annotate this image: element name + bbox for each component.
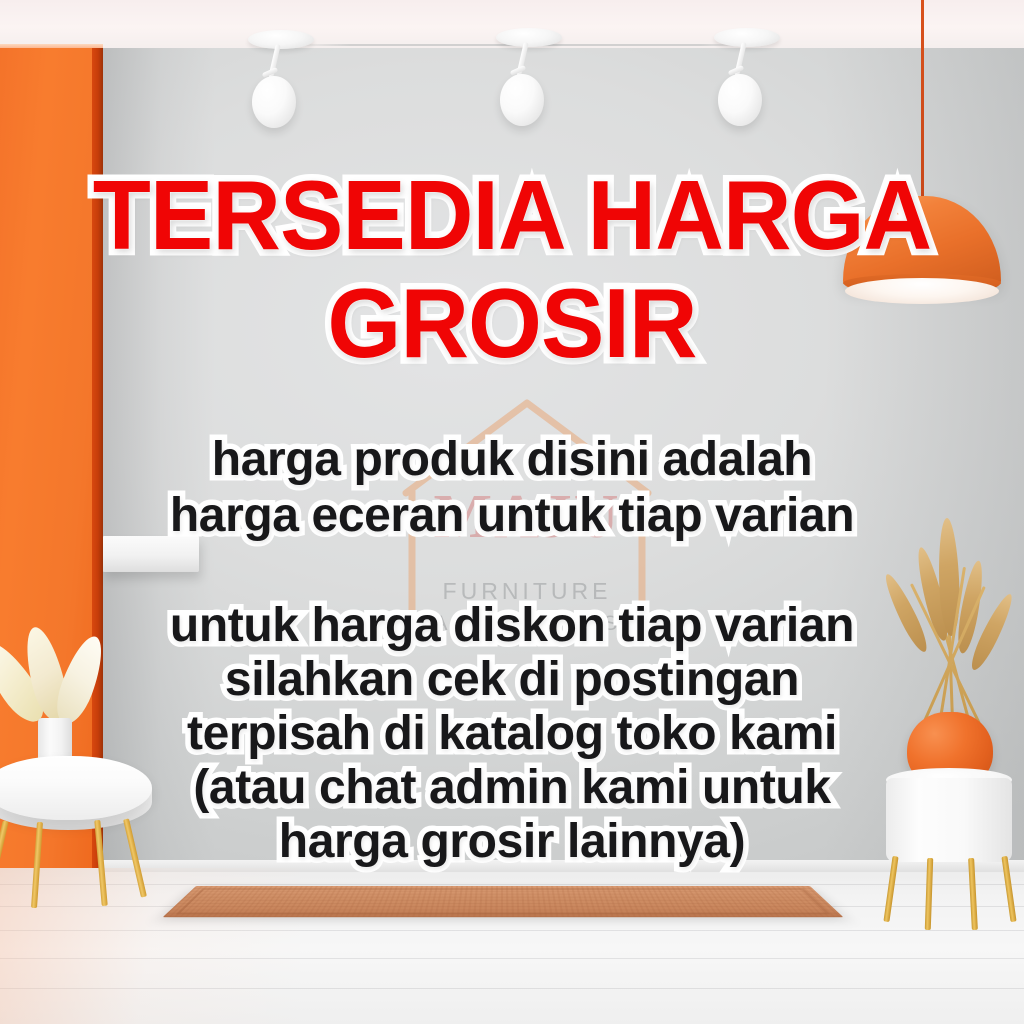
body-paragraph2-line1: untuk harga diskon tiap varian [0,598,1024,653]
body-paragraph2-line4: (atau chat admin kami untuk [0,760,1024,815]
body-paragraph1-line1: harga produk disini adalah [0,432,1024,487]
promo-poster: MAJU FURNITURE ACCESSORIES TERSEDIA HARG… [0,0,1024,1024]
body-paragraph1-line2: harga eceran untuk tiap varian [0,488,1024,543]
headline-line-1: TERSEDIA HARGA [15,170,1008,260]
headline-line-2: GROSIR [15,278,1008,368]
text-overlay: TERSEDIA HARGA GROSIR harga produk disin… [0,0,1024,1024]
body-paragraph2-line2: silahkan cek di postingan [0,652,1024,707]
body-paragraph2-line5: harga grosir lainnya) [0,814,1024,869]
body-paragraph2-line3: terpisah di katalog toko kami [0,706,1024,761]
